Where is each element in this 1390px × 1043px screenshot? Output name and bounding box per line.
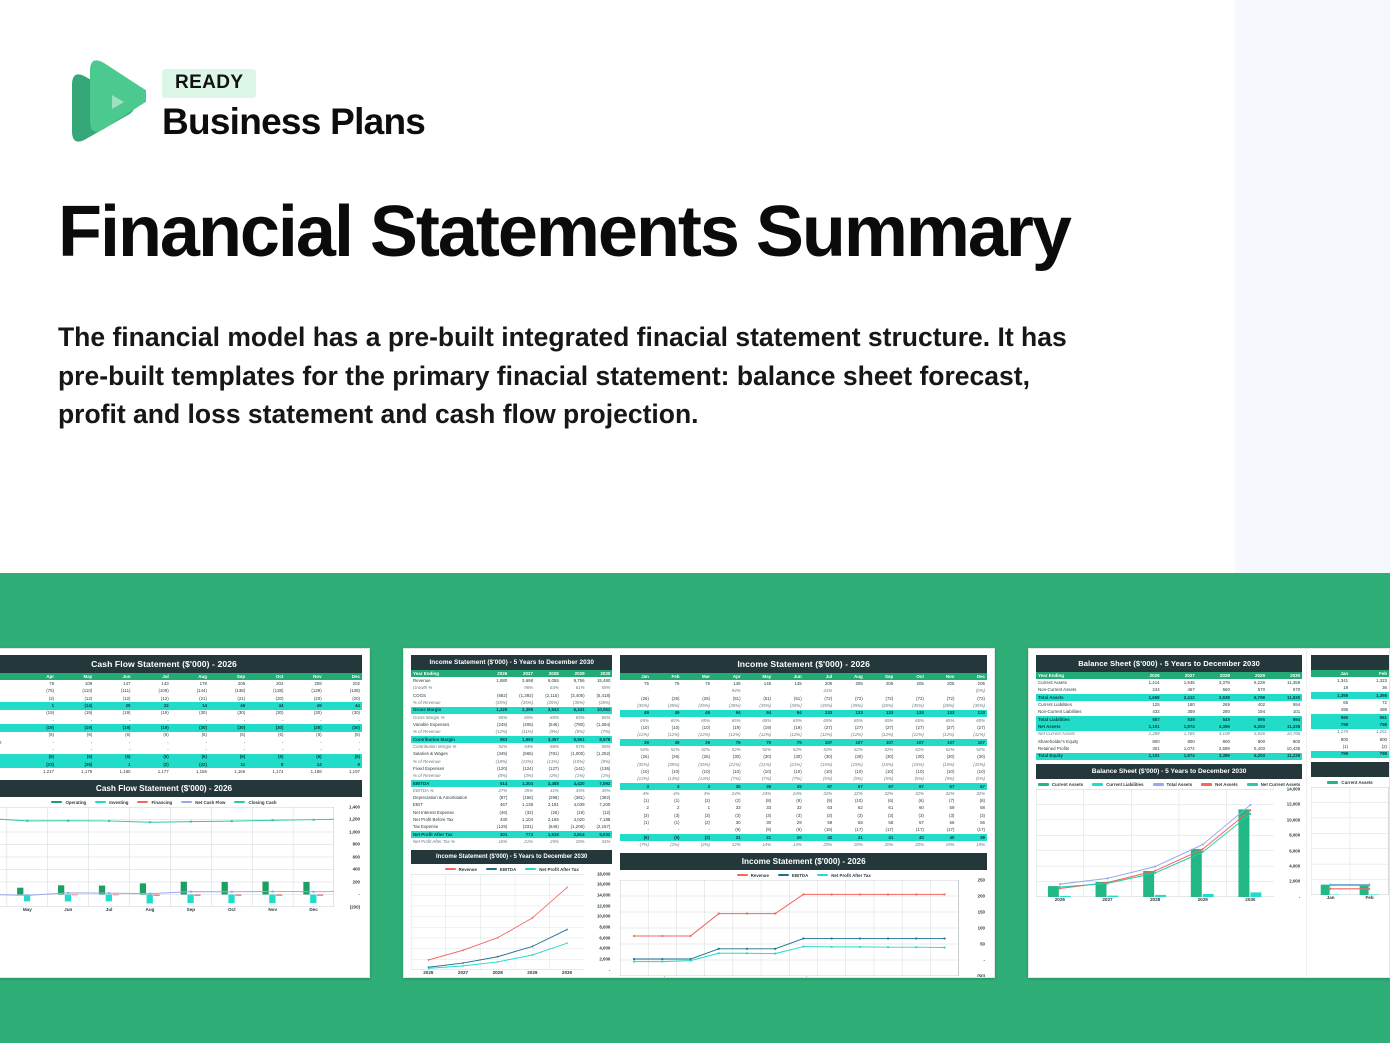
balance-plot — [1036, 789, 1274, 897]
table-row: Net Profit After Tax3017731,5152,8145,03… — [411, 831, 612, 838]
cell: 489 — [1350, 707, 1389, 714]
cell: (15%) — [804, 761, 835, 768]
x-tick: Jun — [48, 907, 89, 912]
brand-logo[interactable]: READY Business Plans — [58, 57, 425, 149]
cell: (12%) — [484, 729, 510, 736]
income12m-plot — [620, 880, 959, 976]
cell: (392) — [587, 794, 613, 801]
balance-monthly-table: JanFeb 1,3411,32318361,3591,359657249548… — [1311, 670, 1389, 758]
cell: (27) — [926, 724, 957, 731]
cell: (27) — [865, 724, 896, 731]
cell: (9) — [804, 797, 835, 804]
cell: (3) — [712, 812, 743, 819]
cell: 65% — [651, 717, 682, 724]
cell: - — [209, 746, 247, 753]
cell: (19) — [56, 724, 94, 731]
table-row: % of Revenue(35%)(35%)(35%)(35%)(35%) — [411, 699, 612, 706]
cell: 4% — [651, 790, 682, 797]
cell: 2,488 — [535, 780, 561, 787]
cell: - — [834, 688, 865, 695]
income-screenshot-card[interactable]: Income Statement ($'000) - 5 Years to De… — [403, 648, 995, 978]
col-Feb: Feb — [1350, 670, 1389, 677]
cell: 430 — [484, 816, 510, 823]
y-tick: 200 — [978, 893, 985, 898]
cell: 36 — [1350, 685, 1389, 692]
cell: (72) — [865, 695, 896, 702]
cell: (136) — [587, 765, 613, 772]
x-tick: Sep — [170, 907, 211, 912]
cell: 1 — [18, 702, 56, 709]
cell: (2) — [681, 834, 712, 841]
cell: 52% — [956, 746, 987, 753]
cell: (10) — [620, 768, 651, 775]
cell: 107 — [926, 739, 957, 746]
cell: (35%) — [773, 702, 804, 709]
cell: (27) — [834, 724, 865, 731]
cell: (21) — [209, 695, 247, 702]
cell: - — [132, 746, 170, 753]
cell: 5,032 — [587, 831, 613, 838]
cell: 21% — [509, 838, 535, 845]
cell: 1,658 — [1127, 694, 1162, 701]
y-tick: 12,000 — [597, 903, 610, 908]
cell: (51) — [743, 695, 774, 702]
cell: (10%) — [561, 758, 587, 765]
cell: (2%) — [651, 841, 682, 848]
cell: (26) — [651, 754, 682, 761]
cell: (9) — [773, 827, 804, 834]
legend-swatch-icon — [817, 874, 828, 877]
col-Sep: Sep — [209, 673, 247, 680]
cell: (30) — [171, 724, 209, 731]
cell: 65% — [484, 714, 510, 721]
table-row: Current Liabilities125180269402594 — [1036, 701, 1302, 708]
cell: (3) — [926, 812, 957, 819]
col-2027: 2027 — [509, 670, 535, 677]
cell: 52% — [926, 746, 957, 753]
cell: (649) — [535, 824, 561, 831]
cell: (1,084) — [587, 721, 613, 728]
y-tick: 4,000 — [599, 946, 610, 951]
cell: 65% — [956, 717, 987, 724]
cell: 133 — [834, 710, 865, 717]
table-row: Depreciation & Amortisation(87)(166)(298… — [411, 794, 612, 801]
hero-section: READY Business Plans Financial Statement… — [0, 0, 1390, 573]
row-label: % of Revenue — [411, 758, 484, 765]
cell: (35%) — [712, 702, 743, 709]
cell: 56 — [926, 819, 957, 826]
cell: 65% — [535, 714, 561, 721]
cell: (35%) — [681, 702, 712, 709]
page-title: Financial Statements Summary — [58, 196, 1178, 269]
cell: 107 — [956, 739, 987, 746]
row-label: Depreciation & Amortisation — [411, 794, 484, 801]
cell: 35 — [773, 783, 804, 790]
table-row: Non-Current Liabilities432359280194101 — [1036, 709, 1302, 716]
cell: 799 — [1311, 721, 1350, 728]
cell: 6,055 — [535, 677, 561, 684]
cell: (35%) — [509, 699, 535, 706]
y-tick: 12,000 — [1287, 802, 1300, 807]
cell: (5%) — [926, 776, 957, 783]
cell: 75 — [743, 739, 774, 746]
x-tick: Aug — [818, 976, 846, 978]
cell: 54% — [509, 743, 535, 750]
cell: (3) — [834, 812, 865, 819]
cell: 109 — [56, 680, 94, 687]
table-row: (26)(26)(26)(30)(30)(30)(30)(30)(30)(30)… — [620, 754, 987, 761]
cell: (30) — [209, 710, 247, 717]
row-label: Financing — [0, 695, 18, 702]
table-row: Sub Total(19)(19)(19)(19)(30)(30)(30)(30… — [0, 724, 362, 731]
cell: (22) — [171, 761, 209, 768]
cell: 52% — [773, 746, 804, 753]
legend-swatch-icon — [95, 801, 106, 804]
cell: (298) — [535, 794, 561, 801]
table-row: (12%)(12%)(12%)(12%)(12%)(12%)(12%)(12%)… — [620, 732, 987, 739]
cell: (6) — [865, 797, 896, 804]
cell: (12%) — [773, 732, 804, 739]
cell: (19) — [712, 724, 743, 731]
legend-swatch-icon — [1247, 783, 1258, 786]
col-2028: 2028 — [1197, 672, 1232, 679]
cell: (23) — [18, 761, 56, 768]
cell: (2,115) — [535, 692, 561, 699]
col-Nov: Nov — [926, 673, 957, 680]
cell: (21%) — [773, 761, 804, 768]
play-triangle-logo-icon — [58, 57, 146, 149]
cell: (12%) — [834, 732, 865, 739]
cell: 10,062 — [587, 707, 613, 714]
cell: 64% — [535, 685, 561, 692]
cell: (12%) — [712, 732, 743, 739]
col-Aug: Aug — [834, 673, 865, 680]
cell: 3 — [651, 783, 682, 790]
row-label: Total Assets — [1036, 694, 1127, 701]
cell: (10) — [865, 768, 896, 775]
cell: 72 — [1350, 699, 1389, 706]
cell: (27) — [804, 724, 835, 731]
y-tick: - — [609, 967, 610, 972]
cell: 58 — [956, 805, 987, 812]
balance-chart-title: Balance Sheet ($'000) - 5 Years to Decem… — [1036, 764, 1302, 779]
y-tick: 8,000 — [599, 924, 610, 929]
income5y-plot — [411, 874, 584, 970]
cell: 208 — [285, 680, 323, 687]
table-row: Operating79109147143178205202208202 — [0, 680, 362, 687]
cashflow-screenshot-card[interactable]: Cash Flow Statement ($'000) - 2026 Year … — [0, 648, 370, 978]
cell: (8%) — [587, 758, 613, 765]
cell: (13%) — [651, 776, 682, 783]
cell: 24% — [773, 790, 804, 797]
x-tick: Nov — [252, 907, 293, 912]
ready-badge: READY — [162, 69, 256, 98]
table-row: 757575145145145205205205205205205 — [620, 680, 987, 687]
cell: (2) — [132, 761, 170, 768]
cell: 44 — [247, 702, 285, 709]
cell: 6,228 — [1232, 679, 1267, 686]
cell: 1,197 — [324, 768, 362, 775]
cell: 178 — [171, 680, 209, 687]
cell: (72) — [804, 695, 835, 702]
cell: (2) — [681, 797, 712, 804]
income5y-table: Year Ending20262027202820292030 Revenue1… — [411, 670, 612, 846]
y-tick: 14,000 — [597, 892, 610, 897]
table-row: (10)(10)(10)(10)(10)(10)(10)(10)(10)(10)… — [620, 768, 987, 775]
cell: 133 — [956, 710, 987, 717]
cell: (35%) — [535, 699, 561, 706]
table-row: 560561 — [1311, 714, 1389, 721]
cell: - — [895, 688, 926, 695]
cell: 11,930 — [1267, 694, 1302, 701]
cell: 133 — [865, 710, 896, 717]
cell: 32% — [834, 790, 865, 797]
legend-item: Current Liabilities — [1092, 782, 1143, 787]
cell: (19) — [561, 809, 587, 816]
cell: 1,101 — [1127, 753, 1162, 760]
cell: 29 — [773, 819, 804, 826]
cell: - — [132, 739, 170, 746]
cell: (35%) — [926, 702, 957, 709]
row-label: EBIT — [411, 802, 484, 809]
cell: 27% — [484, 787, 510, 794]
cell: 49 — [681, 710, 712, 717]
cell: 52% — [895, 746, 926, 753]
y-tick: 400 — [353, 867, 360, 872]
brand-name: Business Plans — [162, 103, 425, 142]
cashflow-plot — [0, 807, 334, 907]
cell: (12) — [94, 695, 132, 702]
cell: (7%) — [743, 776, 774, 783]
cell: (20) — [247, 695, 285, 702]
cell: 56 — [956, 819, 987, 826]
cell: (30) — [247, 710, 285, 717]
y-tick: 100 — [978, 925, 985, 930]
row-label: % of Revenue — [411, 773, 484, 780]
cell: 52% — [834, 746, 865, 753]
x-tick: Feb — [1350, 895, 1389, 900]
cell: 20 — [773, 834, 804, 841]
col-Nov: Nov — [285, 673, 323, 680]
x-tick: Nov — [903, 976, 931, 978]
cell: (27) — [895, 724, 926, 731]
cell: (345) — [484, 751, 510, 758]
col-Jul: Jul — [804, 673, 835, 680]
row-label: Retained Profits — [1036, 745, 1127, 752]
table-row: Investing(75)(110)(111)(109)(144)(138)(1… — [0, 688, 362, 695]
cell: 75 — [712, 739, 743, 746]
balance-screenshot-card[interactable]: Balance Sheet ($'000) - 5 Years to Decem… — [1028, 648, 1390, 978]
income5y-y-axis: 18,00016,00014,00012,00010,0008,0006,000… — [584, 874, 612, 970]
cell: 133 — [926, 710, 957, 717]
cell: (30) — [926, 754, 957, 761]
table-row: 799798 — [1311, 751, 1389, 758]
row-label: Current Liabilities — [1036, 701, 1127, 708]
cell: (3) — [956, 812, 987, 819]
cell: (21%) — [743, 761, 774, 768]
table-row: Net Profit Before Tax4301,1042,1654,0207… — [411, 816, 612, 823]
cell: (14) — [56, 702, 94, 709]
cell: (5%) — [834, 776, 865, 783]
cell: (3) — [865, 812, 896, 819]
income12m-table-title: Income Statement ($'000) - 2026 — [620, 655, 987, 673]
col-label: Year Ending — [411, 670, 484, 677]
cell: (17) — [834, 827, 865, 834]
cell: - — [171, 717, 209, 724]
x-tick: Feb — [649, 976, 677, 978]
cell: (35%) — [895, 702, 926, 709]
cell: 60 — [895, 805, 926, 812]
cell: (12%) — [681, 732, 712, 739]
cell: 58 — [865, 819, 896, 826]
legend-item: Investing — [95, 800, 128, 805]
legend-item: Current Assets — [1327, 780, 1372, 785]
cell: (3) — [804, 812, 835, 819]
table-row: 52%52%52%52%52%52%52%52%52%52%52%52% — [620, 746, 987, 753]
y-tick: 1,200 — [349, 817, 360, 822]
cell: 59% — [587, 685, 613, 692]
x-tick: Jul — [89, 907, 130, 912]
cell: 39 — [651, 739, 682, 746]
table-row: % of Revenue(12%)(11%)(9%)(8%)(7%) — [411, 729, 612, 736]
cell: 12% — [712, 841, 743, 848]
legend-label: EBITDA — [500, 867, 516, 872]
col-2030: 2030 — [587, 670, 613, 677]
cell: (35%) — [620, 761, 651, 768]
legend-swatch-icon — [445, 868, 456, 871]
row-label: Opening Cash — [0, 710, 18, 717]
cell: (331) — [509, 824, 535, 831]
cell: 694 — [1267, 716, 1302, 723]
cell: 20% — [834, 841, 865, 848]
x-tick: 2026 — [411, 970, 446, 975]
cell: 800 — [1127, 738, 1162, 745]
cell: - — [18, 746, 56, 753]
cell: 52% — [712, 746, 743, 753]
cell: 359 — [1162, 709, 1197, 716]
cell: - — [324, 739, 362, 746]
cell: 107 — [895, 739, 926, 746]
cell: 32% — [926, 790, 957, 797]
balance-chart-legend: Current AssetsCurrent LiabilitiesTotal A… — [1036, 779, 1302, 789]
cell: (26) — [620, 754, 651, 761]
cell: 773 — [509, 831, 535, 838]
table-row: 1836 — [1311, 685, 1389, 692]
cell: 32% — [804, 790, 835, 797]
cell: (3) — [620, 812, 651, 819]
cell: (19) — [132, 724, 170, 731]
cell: 1,229 — [484, 707, 510, 714]
cell: 49% — [587, 787, 613, 794]
cell: (19) — [94, 724, 132, 731]
cell: 800 — [1197, 738, 1232, 745]
cell — [484, 685, 510, 692]
legend-swatch-icon — [737, 874, 748, 877]
legend-swatch-icon — [1327, 781, 1338, 784]
cell: (15%) — [865, 761, 896, 768]
legend-swatch-icon — [486, 868, 497, 871]
col-2027: 2027 — [1162, 672, 1197, 679]
legend-label: Financing — [151, 800, 172, 805]
cell: 9 — [324, 761, 362, 768]
cell: 45% — [561, 787, 587, 794]
row-label: Shareholder's Equity — [1036, 738, 1127, 745]
col-Jun: Jun — [94, 673, 132, 680]
row-label: Total Financing — [0, 754, 18, 761]
cell: (20) — [324, 695, 362, 702]
cell: 65% — [587, 714, 613, 721]
table-row: 495489 — [1311, 707, 1389, 714]
y-tick: 2,000 — [599, 956, 610, 961]
x-tick: 2027 — [1084, 897, 1132, 902]
balance-table: Year Ending20262027202820292030 Current … — [1036, 672, 1302, 760]
cell: 35% — [509, 787, 535, 794]
table-row: (1)(2) — [1311, 743, 1389, 750]
legend-item: Net Profit After Tax — [525, 867, 579, 872]
cell: - — [56, 739, 94, 746]
cell: - — [620, 827, 651, 834]
cell: 1,414 — [1127, 679, 1162, 686]
cell: 301 — [484, 831, 510, 838]
cell: (7) — [926, 797, 957, 804]
cell: (19) — [773, 724, 804, 731]
cell: 14% — [743, 841, 774, 848]
legend-label: Total Assets — [1167, 782, 1193, 787]
cashflow-table: Year EndingAprMayJunJulAugSepOctNovDec O… — [0, 673, 362, 776]
cell: (30) — [171, 710, 209, 717]
col-Dec: Dec — [324, 673, 362, 680]
cell: - — [865, 688, 896, 695]
col-Oct: Oct — [247, 673, 285, 680]
col-May: May — [743, 673, 774, 680]
table-row: Net Profit After Tax %16%21%25%29%33% — [411, 838, 612, 845]
cell: (7%) — [587, 729, 613, 736]
cell: 1,874 — [1162, 723, 1197, 730]
cell: (17) — [865, 827, 896, 834]
cell: (2%) — [681, 841, 712, 848]
cell: (6) — [94, 732, 132, 739]
table-row: Salaries & Wages(345)(565)(781)(1,000)(1… — [411, 751, 612, 758]
table-row: Contribution Margin %52%54%56%57%58% — [411, 743, 612, 750]
cell: (18%) — [484, 758, 510, 765]
cell: - — [285, 739, 323, 746]
cell: 107 — [804, 739, 835, 746]
cell: 52% — [865, 746, 896, 753]
row-label: Loan Repayment — [0, 739, 18, 746]
cell: (5) — [620, 834, 651, 841]
legend-item: Financing — [137, 800, 172, 805]
cell: (26) — [681, 754, 712, 761]
cell: (20) — [285, 695, 323, 702]
cell: (10) — [651, 724, 682, 731]
x-tick: 2027 — [446, 970, 481, 975]
cell: 94 — [773, 710, 804, 717]
cell: (1) — [1311, 743, 1350, 750]
cell: (11%) — [509, 729, 535, 736]
cell: 49 — [651, 710, 682, 717]
row-label: Contribution Margin — [411, 736, 484, 743]
cell: 467 — [1162, 687, 1197, 694]
cell: (2,157) — [587, 824, 613, 831]
col-Jul: Jul — [132, 673, 170, 680]
row-label: Closing Cash — [0, 768, 18, 775]
cell: 1,166 — [209, 768, 247, 775]
y-tick: 1,400 — [349, 804, 360, 809]
cell: 4,420 — [561, 780, 587, 787]
cell: 46 — [209, 702, 247, 709]
cell: 5,561 — [561, 736, 587, 743]
cell: 1,074 — [1162, 745, 1197, 752]
